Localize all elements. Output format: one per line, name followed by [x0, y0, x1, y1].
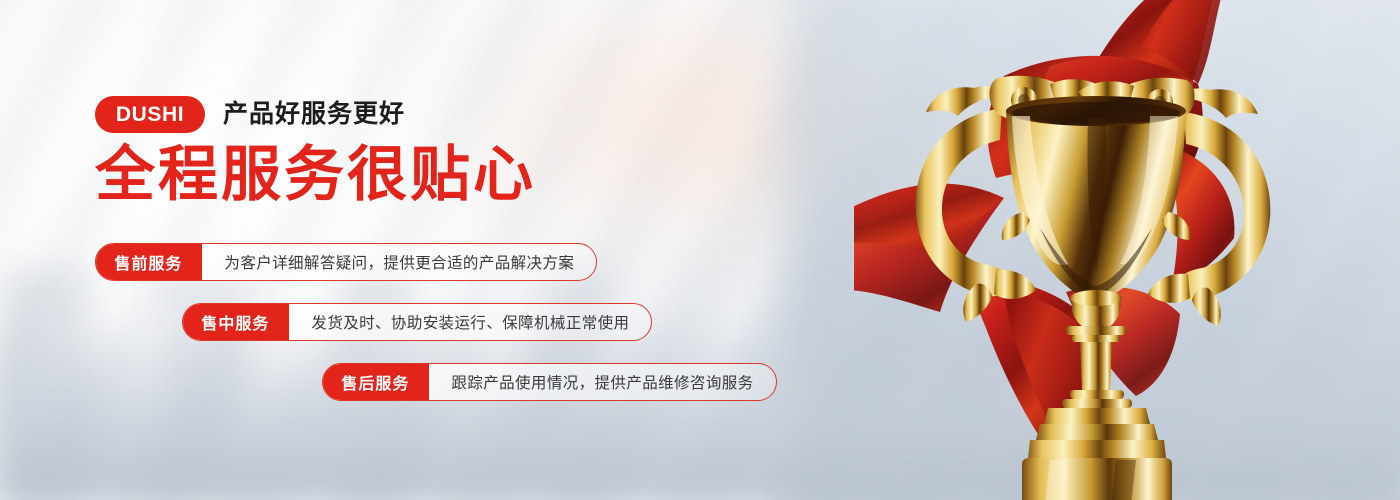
service-row-aftersale: 售后服务 跟踪产品使用情况，提供产品维修咨询服务: [322, 363, 777, 401]
service-row-presale: 售前服务 为客户详细解答疑问，提供更合适的产品解决方案: [95, 243, 597, 281]
service-row-presale-text: 为客户详细解答疑问，提供更合适的产品解决方案: [202, 244, 596, 280]
service-row-aftersale-text: 跟踪产品使用情况，提供产品维修咨询服务: [429, 364, 775, 400]
brand-badge: DUSHI: [95, 96, 205, 133]
service-row-midsale: 售中服务 发货及时、协助安装运行、保障机械正常使用: [182, 303, 652, 341]
service-row-midsale-text: 发货及时、协助安装运行、保障机械正常使用: [289, 304, 651, 340]
service-row-midsale-label: 售中服务: [182, 303, 289, 341]
eyebrow-row: DUSHI 产品好服务更好: [95, 96, 405, 133]
trophy-icon: [854, 0, 1324, 500]
service-row-presale-label: 售前服务: [95, 243, 202, 281]
service-row-aftersale-label: 售后服务: [322, 363, 429, 401]
trophy-artwork: [854, 0, 1324, 500]
eyebrow-text: 产品好服务更好: [223, 102, 405, 127]
banner-content: DUSHI 产品好服务更好 全程服务很贴心 售前服务 为客户详细解答疑问，提供更…: [0, 0, 900, 500]
page-title: 全程服务很贴心: [95, 143, 536, 208]
service-promo-banner: DUSHI 产品好服务更好 全程服务很贴心 售前服务 为客户详细解答疑问，提供更…: [0, 0, 1400, 500]
